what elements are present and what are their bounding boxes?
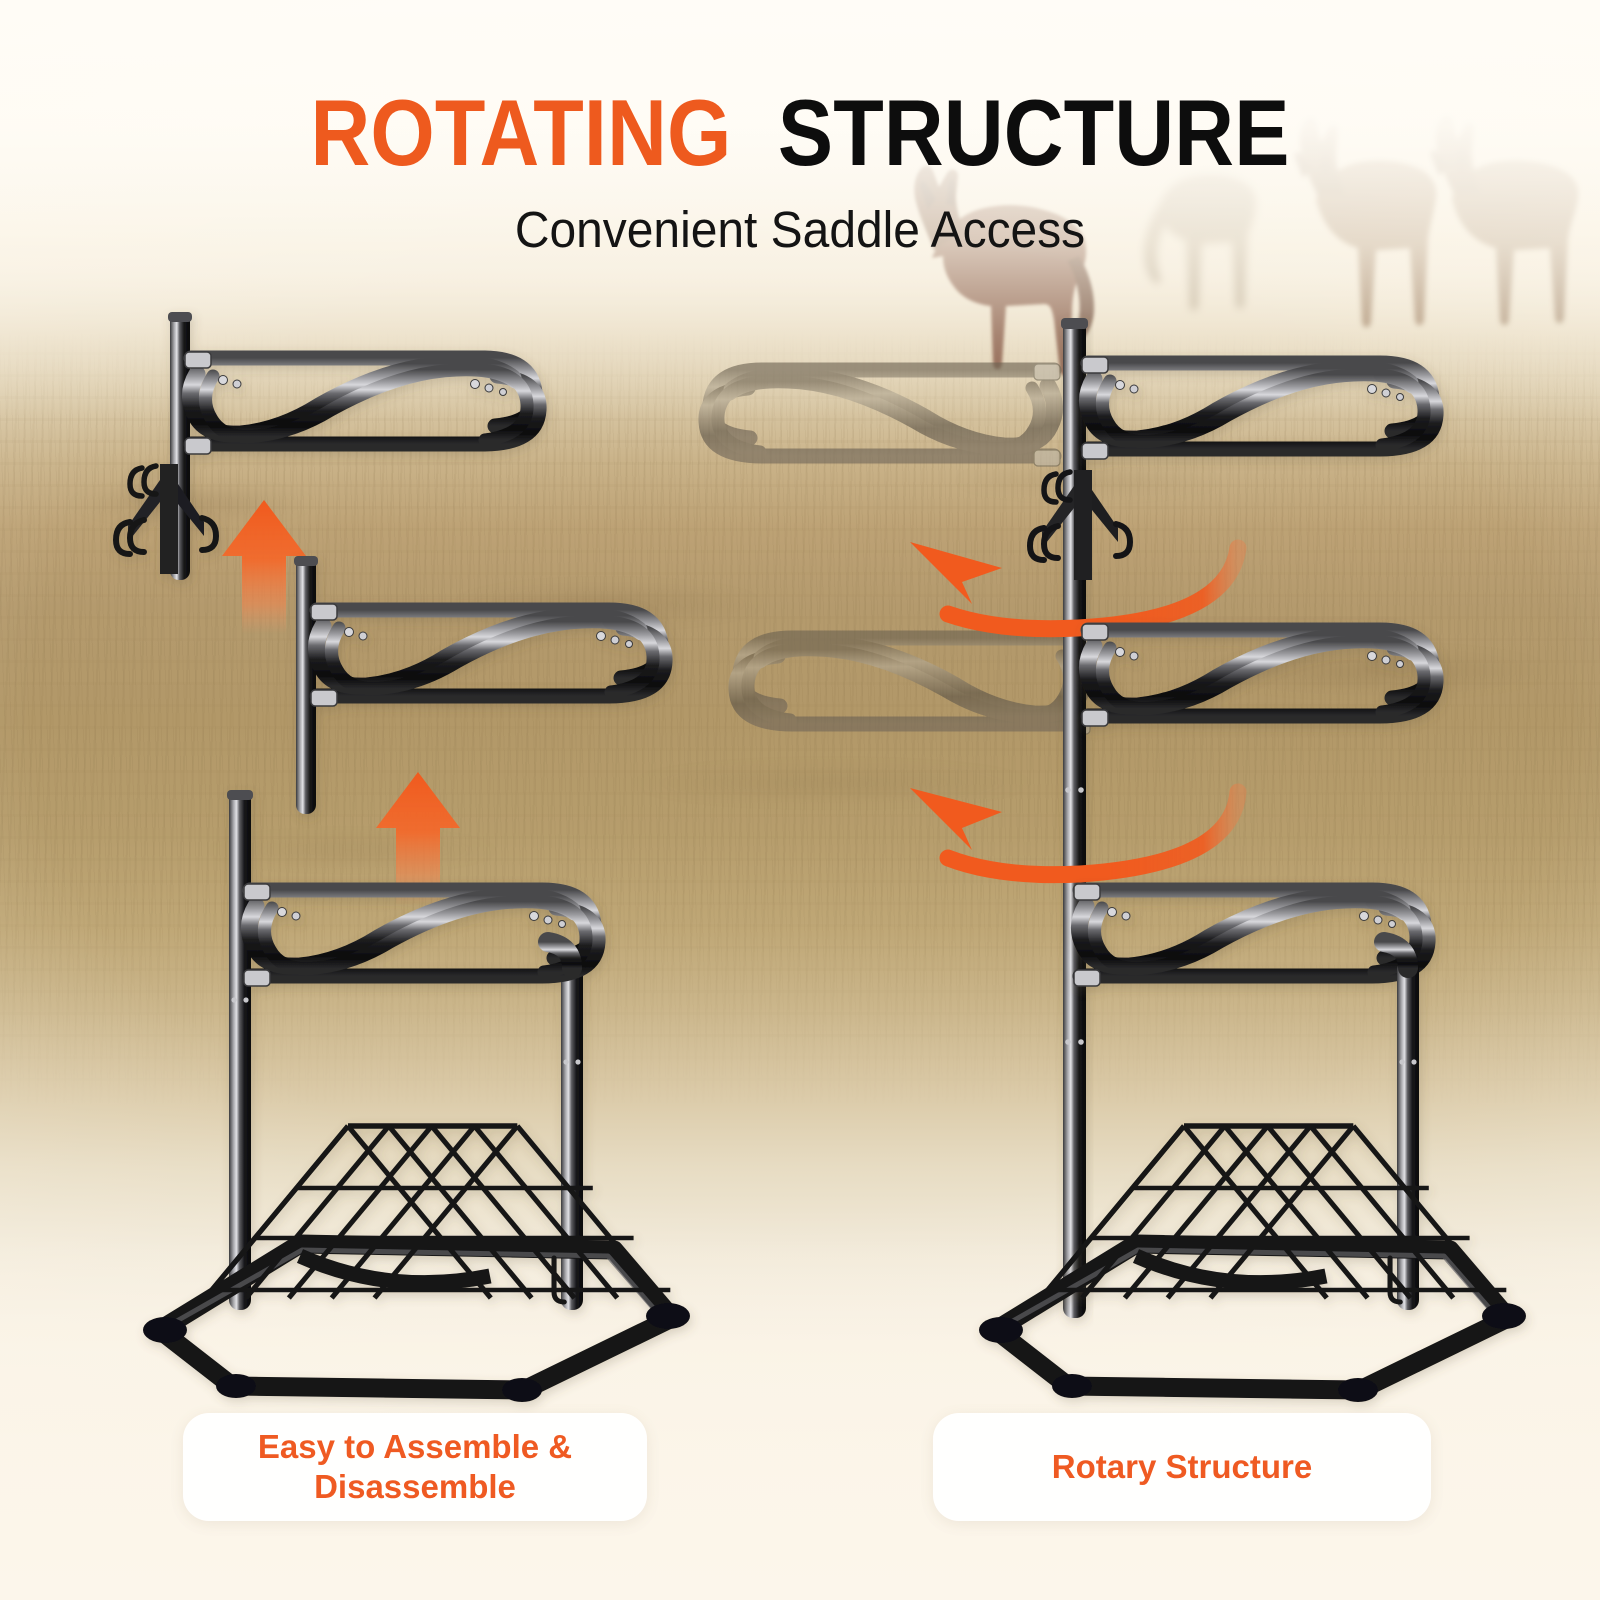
caption-rotary-structure: Rotary Structure [933, 1413, 1431, 1521]
title-rest: STRUCTURE [778, 80, 1290, 185]
title-highlight: ROTATING [310, 80, 731, 185]
caption-left-text: Easy to Assemble &Disassemble [258, 1427, 572, 1506]
page-subtitle: Convenient Saddle Access [48, 204, 1552, 255]
page-title: ROTATING STRUCTURE [96, 86, 1504, 180]
caption-right-text: Rotary Structure [1052, 1447, 1312, 1487]
caption-easy-assemble: Easy to Assemble &Disassemble [183, 1413, 647, 1521]
product-feature-image: ROTATING STRUCTURE Convenient Saddle Acc… [0, 0, 1600, 1600]
